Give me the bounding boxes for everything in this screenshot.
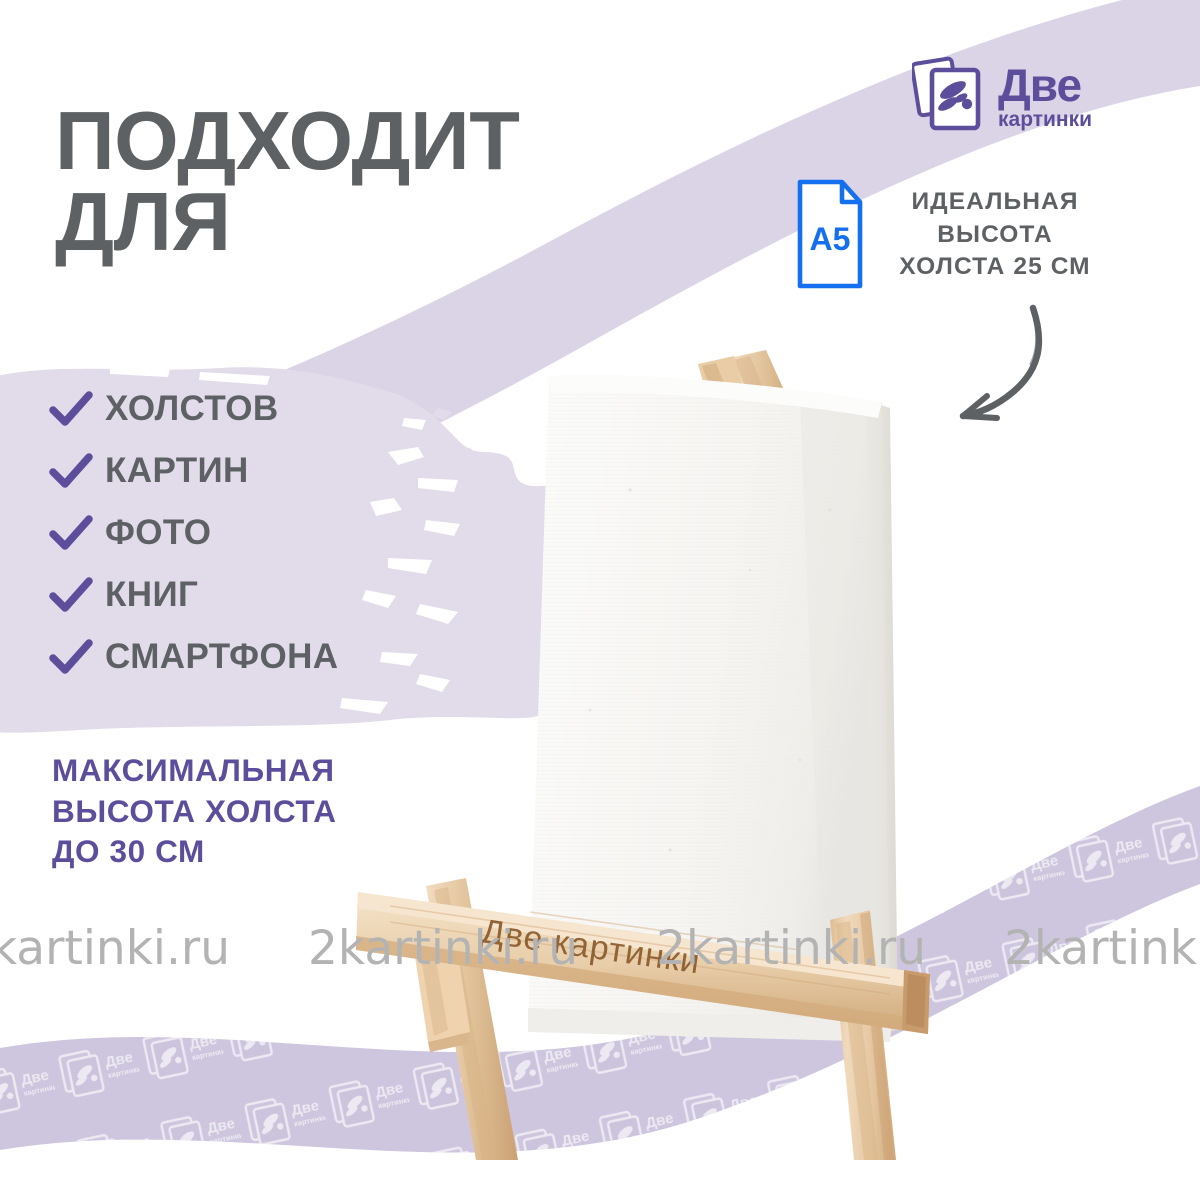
check-icon xyxy=(48,575,94,615)
max-note-line-3: ДО 30 СМ xyxy=(52,831,452,872)
list-item: СМАРТФОНА xyxy=(48,626,478,688)
watermark-text: 2kartinki.ru xyxy=(1004,921,1200,976)
check-icon xyxy=(48,637,94,677)
page-title: ПОДХОДИТ ДЛЯ xyxy=(55,100,755,263)
curved-arrow-down-left-icon xyxy=(935,292,1100,432)
a5-page-icon: A5 xyxy=(796,178,864,290)
page-title-line-2: ДЛЯ xyxy=(55,181,755,262)
logo-name-main: Две xyxy=(998,62,1092,108)
list-item-label: ХОЛСТОВ xyxy=(105,389,279,429)
max-note-line-1: МАКСИМАЛЬНАЯ xyxy=(52,750,452,791)
watermark-text: 2kartinki.ru xyxy=(1004,921,1200,976)
a5-description-line-1: ИДЕАЛЬНАЯ xyxy=(886,186,1104,219)
brand-logo[interactable]: Две картинки xyxy=(912,48,1130,144)
a5-description-line-2: ВЫСОТА xyxy=(886,219,1104,252)
list-item-label: ФОТО xyxy=(105,513,211,553)
logo-name-sub: картинки xyxy=(998,109,1092,130)
max-canvas-height-note: МАКСИМАЛЬНАЯ ВЫСОТА ХОЛСТА ДО 30 СМ xyxy=(52,750,452,872)
max-note-line-2: ВЫСОТА ХОЛСТА xyxy=(52,791,452,832)
a5-size-badge: A5 ИДЕАЛЬНАЯ ВЫСОТА ХОЛСТА 25 СМ xyxy=(796,178,1104,290)
a5-description-line-3: ХОЛСТА 25 СМ xyxy=(886,251,1104,284)
page-title-line-1: ПОДХОДИТ xyxy=(55,94,519,187)
watermark-text: 2kartinki.ru xyxy=(0,921,230,976)
promo-card: Две картинки xyxy=(0,0,1200,1200)
list-item: ФОТО xyxy=(48,502,478,564)
watermark-text: 2kartinki.ru xyxy=(0,921,230,976)
two-pictures-icon xyxy=(912,54,988,138)
list-item-label: КНИГ xyxy=(105,575,198,615)
a5-label: A5 xyxy=(810,221,851,257)
list-item: КНИГ xyxy=(48,564,478,626)
list-item: КАРТИН xyxy=(48,440,478,502)
list-item-label: КАРТИН xyxy=(105,451,249,491)
check-icon xyxy=(48,513,94,553)
suitable-for-list: ХОЛСТОВ КАРТИН ФОТО КНИГ СМАРТФОНА xyxy=(48,378,478,688)
list-item: ХОЛСТОВ xyxy=(48,378,478,440)
check-icon xyxy=(48,389,94,429)
list-item-label: СМАРТФОНА xyxy=(105,637,338,677)
check-icon xyxy=(48,451,94,491)
a5-description: ИДЕАЛЬНАЯ ВЫСОТА ХОЛСТА 25 СМ xyxy=(886,178,1104,284)
